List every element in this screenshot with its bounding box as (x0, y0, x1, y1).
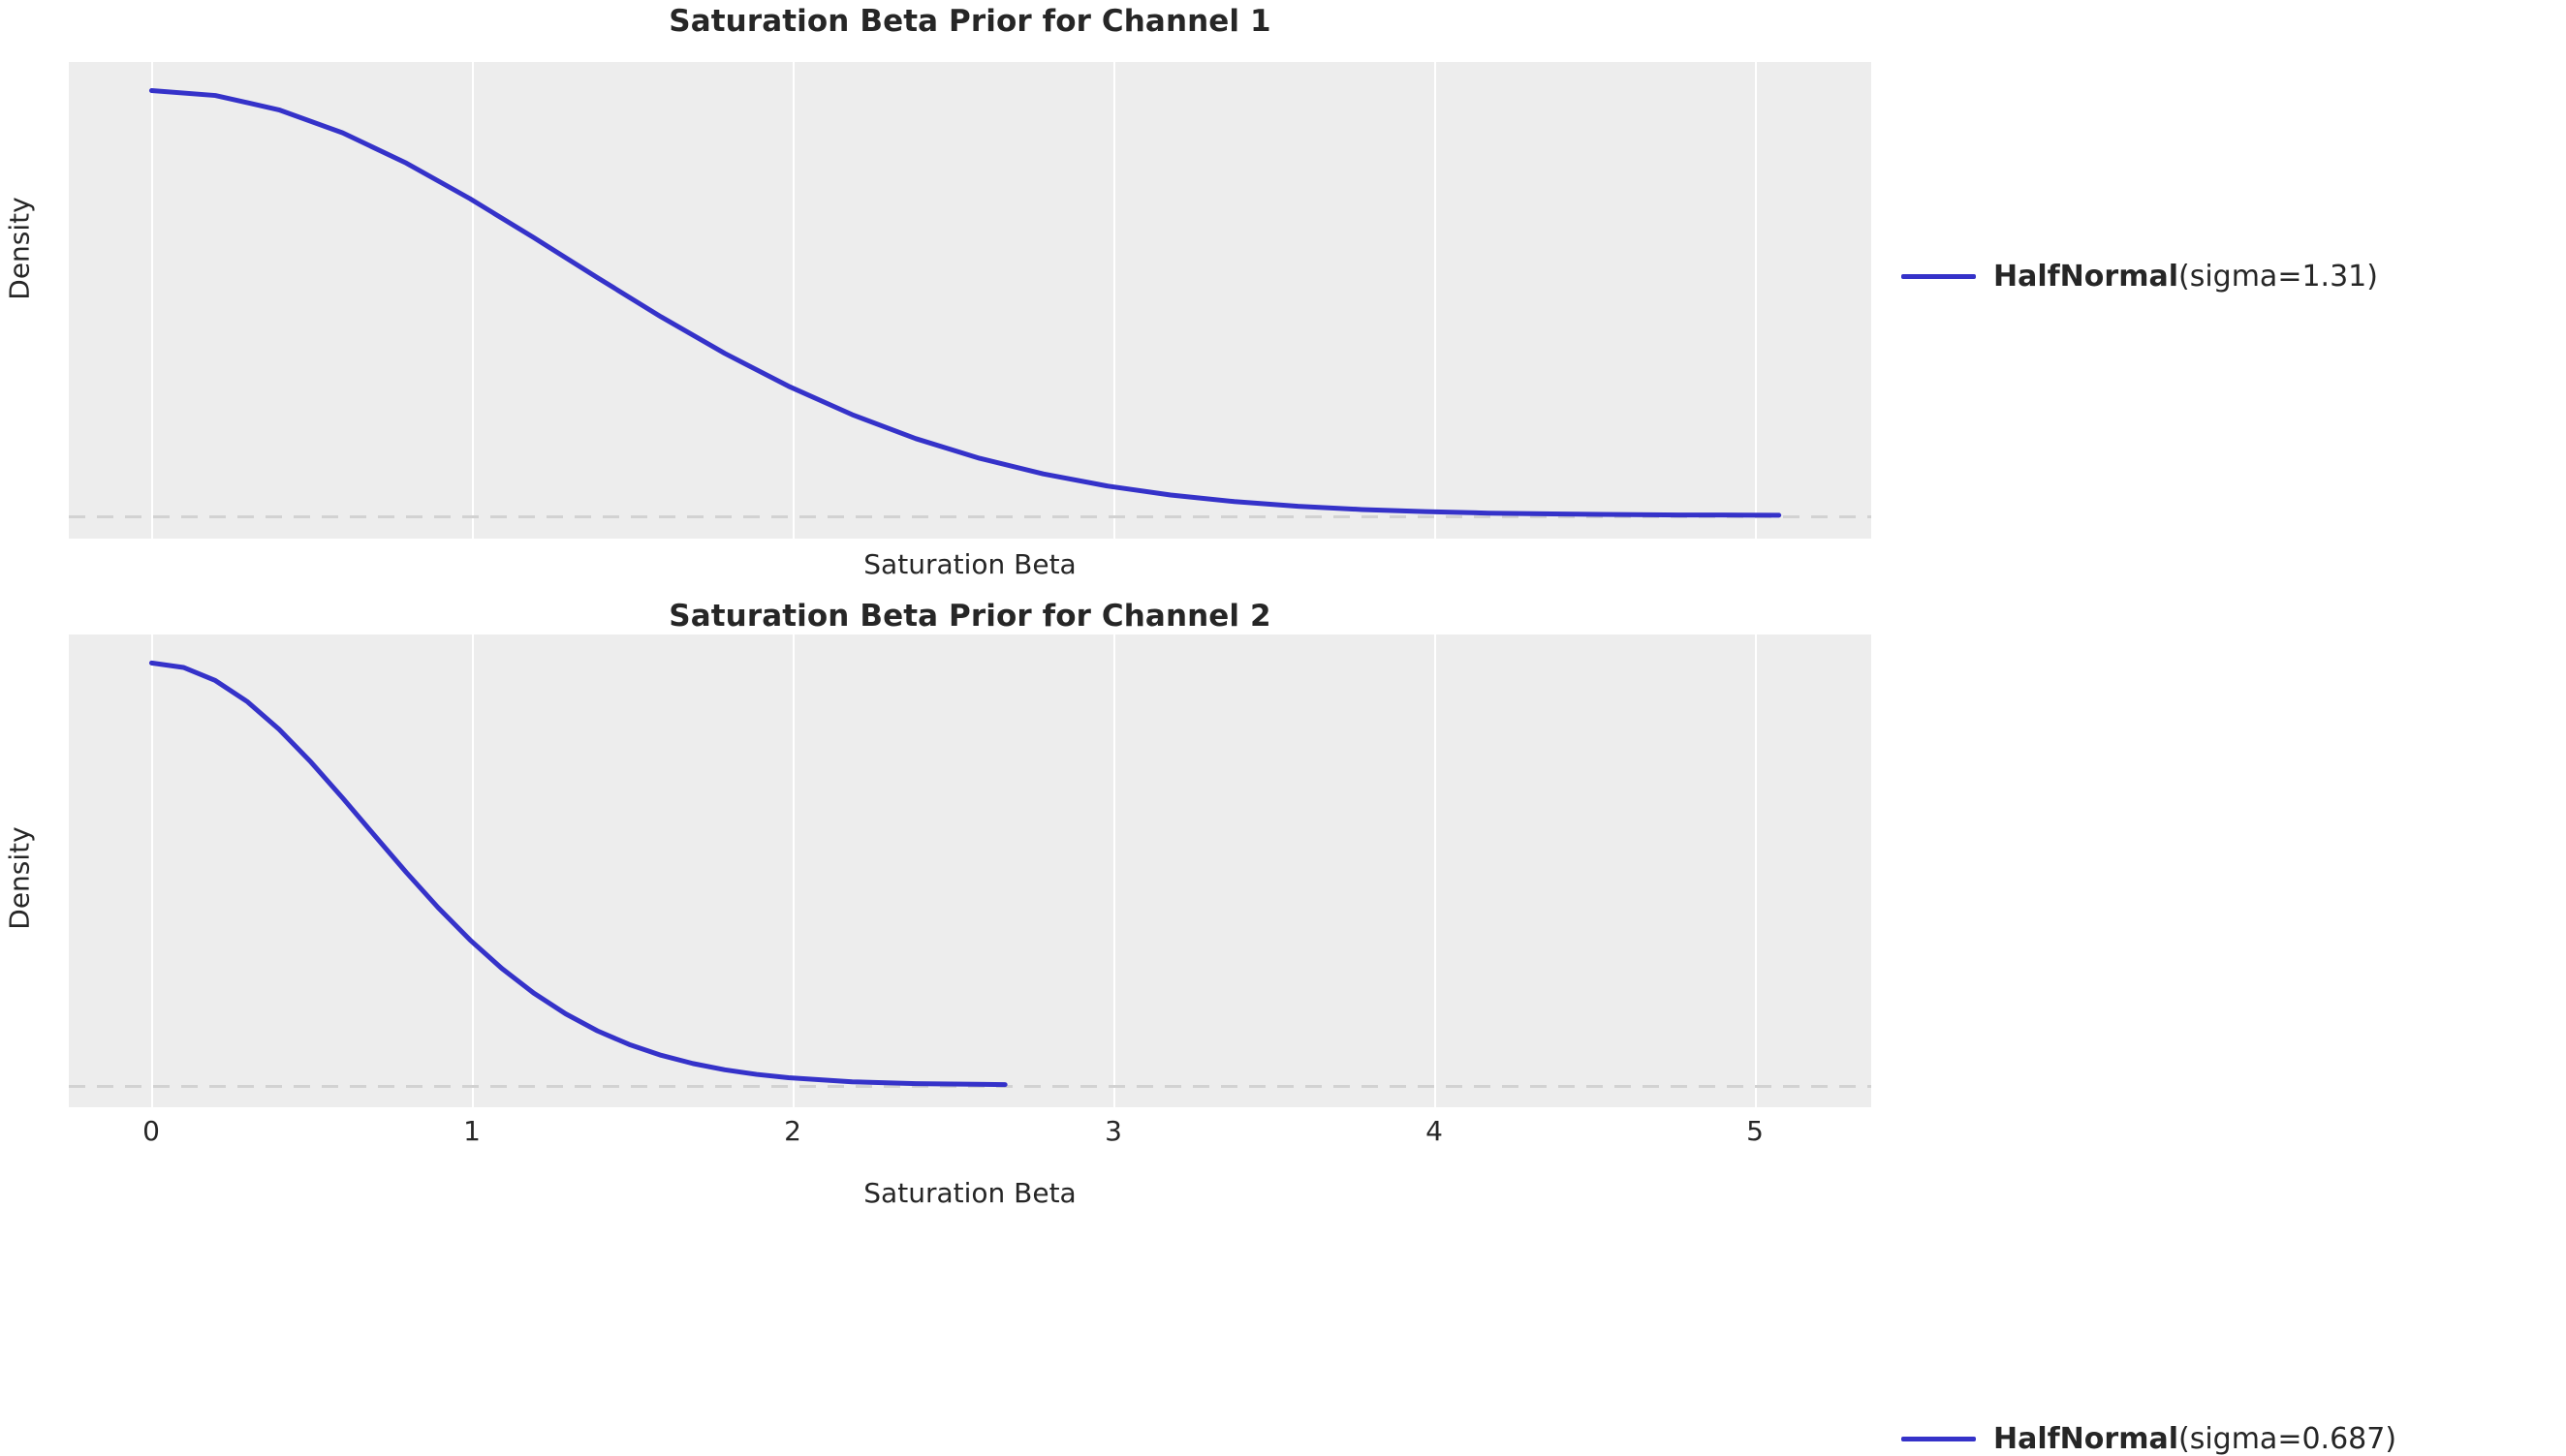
x-axis-label: Saturation Beta (69, 1177, 1871, 1209)
x-axis-tick-labels: 0 1 2 3 4 5 (0, 1115, 2566, 1163)
plot-area (69, 62, 1871, 539)
y-axis-label: Density (4, 197, 36, 299)
legend-line-swatch-icon (1901, 274, 1976, 279)
chart-panel-channel-1: Saturation Beta Prior for Channel 1 Dens… (0, 0, 2566, 601)
legend-line-swatch-icon (1901, 1437, 1976, 1441)
chart-panel-channel-2: Saturation Beta Prior for Channel 2 Dens… (0, 572, 2566, 1224)
legend-channel-1: HalfNormal(sigma=1.31) (1901, 260, 2378, 294)
legend-distribution-name: HalfNormal (1993, 1422, 2178, 1456)
x-tick-2: 2 (784, 1115, 801, 1147)
legend-label: HalfNormal(sigma=1.31) (1993, 260, 2378, 294)
x-tick-5: 5 (1746, 1115, 1764, 1147)
y-axis-label: Density (4, 826, 36, 929)
panel-title: Saturation Beta Prior for Channel 1 (69, 4, 1871, 39)
legend-distribution-name: HalfNormal (1993, 260, 2178, 294)
legend-distribution-params: (sigma=0.687) (2178, 1422, 2396, 1456)
legend-distribution-params: (sigma=1.31) (2178, 260, 2378, 294)
density-curve-channel-1 (69, 62, 1871, 539)
x-tick-3: 3 (1105, 1115, 1122, 1147)
x-tick-0: 0 (142, 1115, 160, 1147)
figure: Saturation Beta Prior for Channel 1 Dens… (0, 0, 2566, 1224)
panel-title: Saturation Beta Prior for Channel 2 (69, 599, 1871, 634)
legend-channel-2: HalfNormal(sigma=0.687) (1901, 1422, 2396, 1456)
x-tick-1: 1 (463, 1115, 481, 1147)
legend-label: HalfNormal(sigma=0.687) (1993, 1422, 2396, 1456)
x-tick-4: 4 (1425, 1115, 1443, 1147)
density-curve-channel-2 (69, 635, 1871, 1107)
plot-area (69, 635, 1871, 1107)
